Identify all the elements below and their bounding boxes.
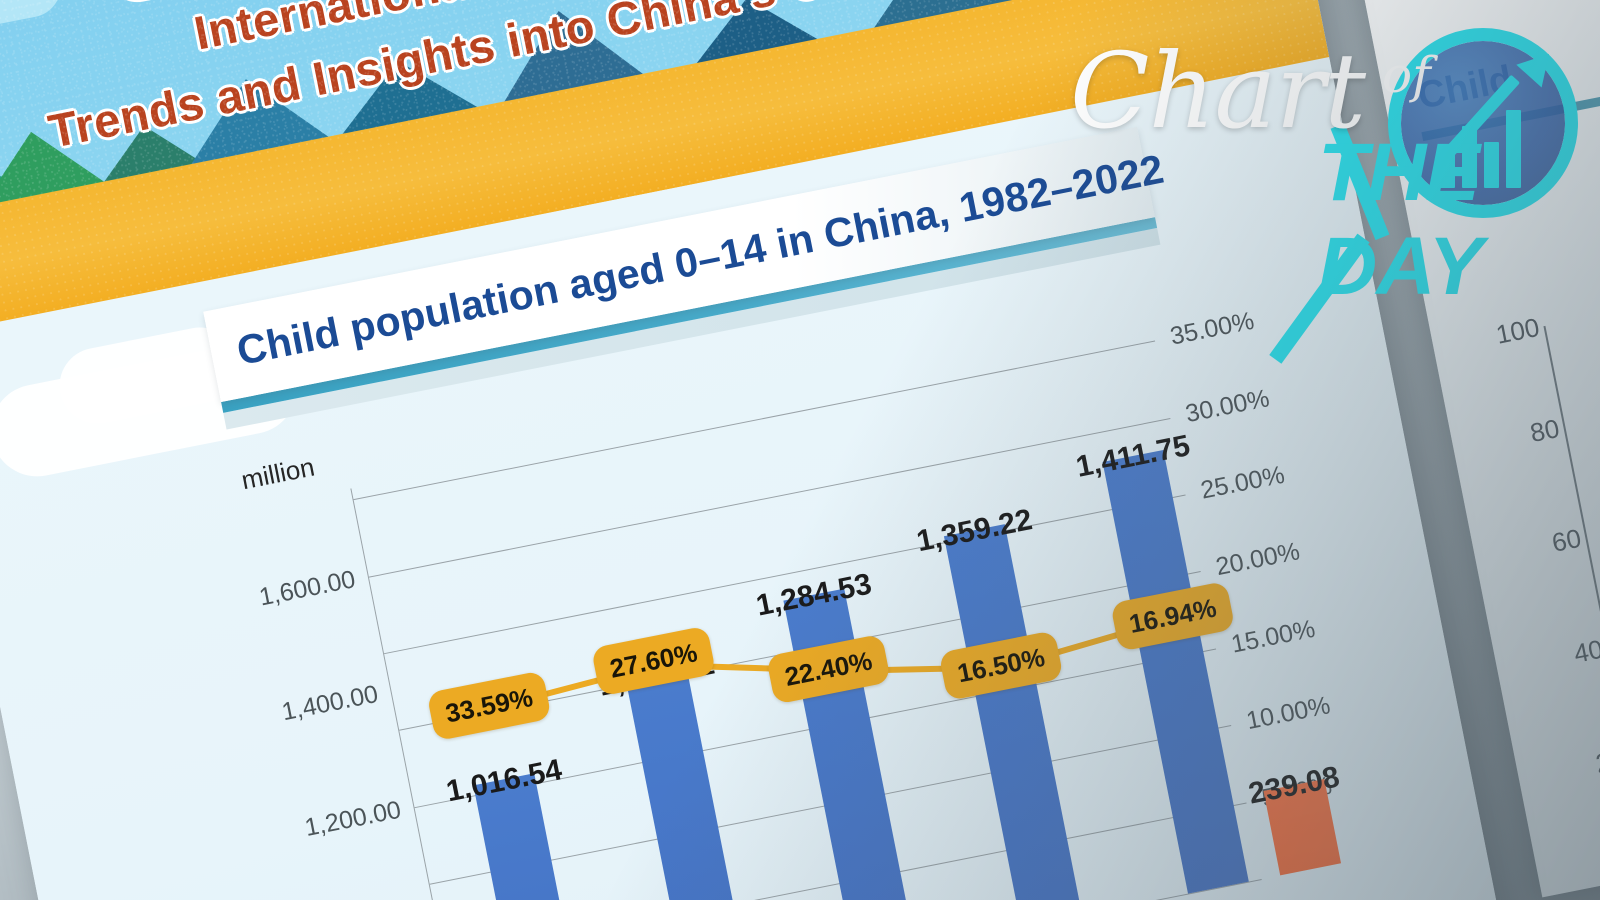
y-axis-tick-left: 1,400.00 <box>280 680 381 727</box>
chart-bar[interactable] <box>626 669 749 900</box>
y-axis-tick-left: 1,200.00 <box>302 796 403 843</box>
y-axis-tick-right: 20.00% <box>1214 538 1303 583</box>
poster-headline-primary: International Children's Day <box>190 0 825 61</box>
logo-word-the-day: THE DAY <box>1318 126 1582 314</box>
secondary-y-tick: 100 <box>1493 312 1542 351</box>
chart-bar[interactable] <box>783 589 915 900</box>
y-axis-tick-right: 30.00% <box>1183 384 1272 429</box>
chart-of-the-day-logo: Chart of THE DAY <box>1062 8 1582 238</box>
logo-word-of: of <box>1382 46 1431 104</box>
percentage-badge[interactable]: 16.50% <box>938 630 1063 701</box>
cloud-shape <box>103 0 360 7</box>
y-axis-tick-right: 10.00% <box>1244 691 1333 736</box>
gridline <box>384 495 1186 655</box>
percentage-badge[interactable]: 22.40% <box>766 634 891 705</box>
secondary-y-tick: 80 <box>1528 413 1562 449</box>
y-axis-tick-right: 15.00% <box>1229 615 1318 660</box>
secondary-y-tick: 40 <box>1571 633 1600 669</box>
cloud-shape <box>0 0 66 57</box>
secondary-y-tick: 60 <box>1549 523 1583 559</box>
percentage-badge[interactable]: 27.60% <box>591 625 716 696</box>
secondary-y-tick: 20 <box>1593 743 1600 779</box>
cloud-shape <box>0 0 1 16</box>
y-axis-tick-left: 1,600.00 <box>257 565 358 612</box>
percentage-badge[interactable]: 33.59% <box>426 670 551 741</box>
secondary-chart-plot: 100 80 60 40 20 <box>1543 262 1600 787</box>
chart-bar[interactable] <box>944 524 1082 900</box>
y-axis-tick-right: 25.00% <box>1198 461 1287 506</box>
